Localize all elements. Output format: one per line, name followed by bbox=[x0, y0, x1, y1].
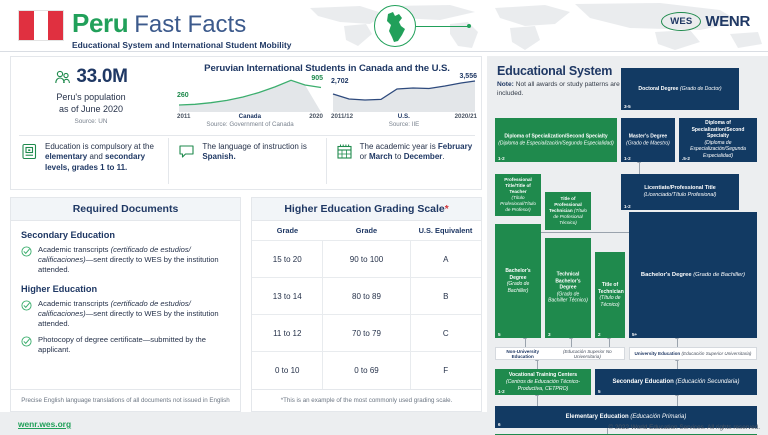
table-row: 11 to 12 70 to 79 C bbox=[252, 315, 481, 352]
required-documents-footnote: Precise English language translations of… bbox=[11, 389, 240, 411]
box-secondary-name: Secondary Education bbox=[612, 379, 673, 385]
infographic-page: PeruFast Facts Educational System and In… bbox=[0, 0, 768, 435]
fact-academic-year: The academic year is February or March t… bbox=[326, 136, 483, 190]
box-bachelor-g-native: (Grado de Bachiller) bbox=[498, 281, 538, 294]
col-grade-1: Grade bbox=[252, 221, 323, 241]
calendar-icon bbox=[336, 143, 353, 160]
charts-title: Peruvian International Students in Canad… bbox=[171, 57, 483, 74]
box-diploma-specialization-right: Diploma of Specialization/Second Special… bbox=[679, 118, 757, 162]
box-technical-bachelors-degree: Technical Bachelor's Degree (Grado de Ba… bbox=[545, 238, 591, 338]
chart-us-x-right: 2020/21 bbox=[455, 113, 477, 120]
box-dip-left-years: 1-2 bbox=[498, 156, 505, 161]
fact-compulsory-education: Education is compulsory at the elementar… bbox=[11, 136, 168, 190]
box-university-education: University Education (Educación Superior… bbox=[629, 347, 757, 360]
box-masters-degree: Master's Degree (Grado de Maestro) 1-2 bbox=[621, 118, 675, 162]
box-nonuni-native: (Educación Superior No Universitaria) bbox=[551, 349, 624, 359]
box-bachelor-g-years: 5 bbox=[498, 332, 501, 337]
cell-grade-2: 0 to 69 bbox=[323, 352, 410, 389]
grading-table: Grade Grade U.S. Equivalent 15 to 20 90 … bbox=[252, 221, 481, 389]
educational-system-note: Note: Not all awards or study patterns a… bbox=[497, 81, 627, 98]
page-footer: wenr.wes.org bbox=[0, 412, 487, 435]
col-us-equivalent: U.S. Equivalent bbox=[410, 221, 481, 241]
fast-facts-card: 33.0M Peru's population as of June 2020 … bbox=[10, 56, 482, 190]
table-row: 0 to 10 0 to 69 F bbox=[252, 352, 481, 389]
wes-wenr-logo: WES WENR bbox=[661, 12, 750, 31]
fact-language: The language of instruction is Spanish. bbox=[168, 136, 325, 190]
box-vocational-years: 1-2 bbox=[498, 389, 505, 394]
list-item: Academic transcripts (certificado de est… bbox=[21, 245, 230, 275]
box-doctoral-degree: Doctoral Degree (Grado de Doctor) 3-5 bbox=[621, 68, 739, 110]
required-documents-panel: Required Documents Secondary Education A… bbox=[10, 197, 241, 412]
book-icon bbox=[21, 143, 38, 160]
wes-logo-mark: WES bbox=[661, 12, 701, 31]
connector bbox=[537, 360, 538, 369]
chart-canada-region: Canada bbox=[239, 113, 261, 120]
table-header-row: Grade Grade U.S. Equivalent bbox=[252, 221, 481, 241]
population-value: 33.0M bbox=[76, 66, 127, 88]
cell-grade-2: 70 to 79 bbox=[323, 315, 410, 352]
check-circle-icon bbox=[21, 336, 32, 347]
required-documents-heading: Required Documents bbox=[11, 198, 240, 221]
doc-text: Photocopy of degree certificate—submitte… bbox=[38, 335, 230, 355]
box-uni-name: University Education bbox=[635, 351, 681, 356]
grading-footnote: *This is an example of the most commonly… bbox=[252, 389, 481, 411]
section-secondary-education-label: Secondary Education bbox=[21, 230, 230, 240]
box-prof-title-native: (Título Profesional/Título de Profesor) bbox=[498, 195, 538, 213]
box-title-of-technician: Title of Technician (Título de Técnico) … bbox=[595, 252, 625, 338]
bottom-panels: Required Documents Secondary Education A… bbox=[10, 197, 482, 412]
people-icon bbox=[54, 69, 71, 86]
box-vocational-native: (Centros de Educación Técnico-Productiva… bbox=[498, 379, 588, 393]
chart-canada-start-label: 260 bbox=[177, 92, 189, 99]
box-licentiate: Licentiate/Professional Title (Licenciad… bbox=[621, 174, 739, 210]
locator-leader-line bbox=[416, 26, 468, 27]
box-prof-title-name: Professional Title/Title of Teacher bbox=[498, 177, 538, 195]
note-text: Not all awards or study patterns are inc… bbox=[497, 81, 620, 97]
box-dip-left-name: Diploma of Specialization/Second Special… bbox=[498, 133, 614, 140]
table-row: 13 to 14 80 to 89 B bbox=[252, 278, 481, 315]
table-row: 15 to 20 90 to 100 A bbox=[252, 241, 481, 278]
locator-dot bbox=[467, 24, 471, 28]
population-source: Source: UN bbox=[11, 118, 171, 125]
title-suffix: Fast Facts bbox=[134, 11, 246, 39]
cell-grade-1: 0 to 10 bbox=[252, 352, 323, 389]
copyright-text: © 2022 World Education Services. All rig… bbox=[608, 424, 760, 431]
box-bachelor-b-years: 5+ bbox=[632, 332, 637, 337]
box-masters-years: 1-2 bbox=[624, 156, 631, 161]
cell-us-equivalent: F bbox=[410, 352, 481, 389]
list-item: Photocopy of degree certificate—submitte… bbox=[21, 335, 230, 355]
box-dip-right-native: (Diploma de Especialización/Segunda Espe… bbox=[682, 140, 754, 160]
box-masters-native: (Grado de Maestro) bbox=[624, 140, 672, 147]
wenr-wordmark: WENR bbox=[705, 13, 750, 30]
chart-us-region: U.S. bbox=[398, 113, 410, 120]
box-bachelors-degree-blue: Bachelor's Degree (Grado de Bachiller) 5… bbox=[629, 212, 757, 338]
connector bbox=[677, 395, 678, 406]
chart-canada-sparkline bbox=[177, 76, 323, 112]
box-secondary-native: (Educación Secundaria) bbox=[675, 379, 739, 385]
grading-scale-panel: Higher Education Grading Scale* Grade Gr… bbox=[251, 197, 482, 412]
cell-us-equivalent: B bbox=[410, 278, 481, 315]
note-label: Note: bbox=[497, 81, 514, 88]
box-dip-right-years: .5-2 bbox=[682, 156, 690, 161]
box-doctoral-years: 3-5 bbox=[624, 104, 631, 109]
speech-bubble-icon bbox=[178, 143, 195, 160]
page-header: PeruFast Facts Educational System and In… bbox=[0, 0, 768, 52]
box-nonuni-name: Non-University Education bbox=[496, 349, 549, 359]
title-country: Peru bbox=[72, 8, 128, 39]
peru-country-icon bbox=[385, 11, 407, 43]
box-dip-right-name: Diploma of Specialization/Second Special… bbox=[682, 120, 754, 140]
chart-us: 2,702 3,556 2011/12 U.S. 2020/21 Source:… bbox=[331, 76, 477, 128]
box-doctoral-name: Doctoral Degree bbox=[638, 86, 678, 92]
box-licentiate-name: Licentiate/Professional Title bbox=[624, 185, 736, 192]
box-vocational-training-centers: Vocational Training Centers (Centros de … bbox=[495, 369, 591, 395]
box-diploma-specialization-left: Diploma of Specialization/Second Special… bbox=[495, 118, 617, 162]
box-bachelor-b-native: (Grado de Bachiller) bbox=[693, 272, 745, 278]
chart-us-sparkline bbox=[331, 76, 477, 112]
population-desc-line1: Peru's population bbox=[11, 91, 171, 103]
peru-locator-circle bbox=[374, 5, 416, 47]
cell-grade-2: 90 to 100 bbox=[323, 241, 410, 278]
box-professional-technician-title: Title of Professional Technician (Título… bbox=[545, 192, 591, 230]
educational-system-title: Educational System bbox=[497, 64, 612, 78]
chart-canada: 260 905 2011 Canada 2020 Source: Governm… bbox=[177, 76, 323, 128]
box-bachelors-degree-green: Bachelor's Degree (Grado de Bachiller) 5 bbox=[495, 224, 541, 338]
chart-us-source: Source: IIE bbox=[331, 121, 477, 128]
box-elementary-years: 6 bbox=[498, 422, 501, 427]
educational-system-panel: Educational System Note: Not all awards … bbox=[487, 56, 768, 435]
box-tech-bach-native: (Grado de Bachiller Técnico) bbox=[548, 291, 588, 304]
grading-heading-text: Higher Education Grading Scale bbox=[284, 203, 444, 215]
col-grade-2: Grade bbox=[323, 221, 410, 241]
fact-compulsory-text: Education is compulsory at the elementar… bbox=[45, 142, 160, 190]
check-circle-icon bbox=[21, 300, 32, 311]
population-desc-line2: as of June 2020 bbox=[11, 103, 171, 115]
box-licentiate-years: 1-2 bbox=[624, 204, 631, 209]
chart-canada-x-left: 2011 bbox=[177, 113, 190, 120]
box-doctoral-native: (Grado de Doctor) bbox=[680, 86, 722, 92]
connector bbox=[525, 338, 526, 347]
page-title: PeruFast Facts Educational System and In… bbox=[72, 8, 292, 50]
box-secondary-years: 5 bbox=[598, 389, 601, 394]
population-stat: 33.0M Peru's population as of June 2020 … bbox=[11, 57, 171, 135]
connector bbox=[571, 338, 572, 347]
left-column: 33.0M Peru's population as of June 2020 … bbox=[10, 56, 482, 412]
peru-flag bbox=[18, 10, 64, 41]
box-title-tech-years: 2 bbox=[598, 332, 601, 337]
doc-text: Academic transcripts (certificado de est… bbox=[38, 299, 230, 329]
connector bbox=[639, 162, 640, 174]
box-secondary-education: Secondary Education (Educación Secundari… bbox=[595, 369, 757, 395]
connector bbox=[537, 395, 538, 406]
cell-grade-1: 15 to 20 bbox=[252, 241, 323, 278]
cell-us-equivalent: C bbox=[410, 315, 481, 352]
chart-canada-source: Source: Government of Canada bbox=[177, 121, 323, 128]
grading-scale-heading: Higher Education Grading Scale* bbox=[252, 198, 481, 221]
wenr-website-link[interactable]: wenr.wes.org bbox=[18, 419, 71, 429]
list-item: Academic transcripts (certificado de est… bbox=[21, 299, 230, 329]
box-licentiate-native: (Licenciado/Título Profesional) bbox=[624, 192, 736, 199]
cell-grade-1: 11 to 12 bbox=[252, 315, 323, 352]
cell-grade-2: 80 to 89 bbox=[323, 278, 410, 315]
box-professional-title: Professional Title/Title of Teacher (Tít… bbox=[495, 174, 541, 216]
box-non-university-education: Non-University Education (Educación Supe… bbox=[495, 347, 625, 360]
connector bbox=[609, 338, 610, 347]
cell-grade-1: 13 to 14 bbox=[252, 278, 323, 315]
facts-row: Education is compulsory at the elementar… bbox=[11, 136, 483, 190]
section-higher-education-label: Higher Education bbox=[21, 284, 230, 294]
fact-academic-year-text: The academic year is February or March t… bbox=[360, 142, 475, 190]
mobility-charts: Peruvian International Students in Canad… bbox=[171, 57, 483, 135]
box-masters-name: Master's Degree bbox=[624, 133, 672, 140]
chart-us-x-left: 2011/12 bbox=[331, 113, 353, 120]
connector bbox=[677, 360, 678, 369]
box-title-tech-native: (Título de Técnico) bbox=[598, 295, 622, 308]
cell-us-equivalent: A bbox=[410, 241, 481, 278]
box-title-tech-name: Title of Technician bbox=[598, 282, 622, 295]
box-dip-left-native: (Diploma de Especialización/Segundo Espe… bbox=[498, 140, 614, 147]
chart-canada-x-right: 2020 bbox=[309, 113, 323, 120]
chart-us-start-label: 2,702 bbox=[331, 78, 349, 85]
fact-language-text: The language of instruction is Spanish. bbox=[202, 142, 317, 190]
page-subtitle: Educational System and International Stu… bbox=[72, 40, 292, 50]
box-vocational-name: Vocational Training Centers bbox=[498, 372, 588, 379]
chart-us-end-label: 3,556 bbox=[459, 73, 477, 80]
box-tech-bach-years: 3 bbox=[548, 332, 551, 337]
header-divider bbox=[0, 51, 768, 52]
box-elementary-native: (Educación Primaria) bbox=[630, 414, 686, 420]
box-elementary-name: Elementary Education bbox=[566, 414, 629, 420]
connector bbox=[677, 338, 678, 347]
box-bachelor-g-name: Bachelor's Degree bbox=[498, 268, 538, 281]
doc-text: Academic transcripts (certificado de est… bbox=[38, 245, 230, 275]
box-uni-native: (Educación Superior Universitaria) bbox=[682, 351, 752, 356]
check-circle-icon bbox=[21, 246, 32, 257]
box-tech-bach-name: Technical Bachelor's Degree bbox=[548, 272, 588, 292]
grading-heading-asterisk: * bbox=[445, 204, 449, 215]
chart-canada-end-label: 905 bbox=[311, 75, 323, 82]
box-bachelor-b-name: Bachelor's Degree bbox=[641, 272, 692, 278]
